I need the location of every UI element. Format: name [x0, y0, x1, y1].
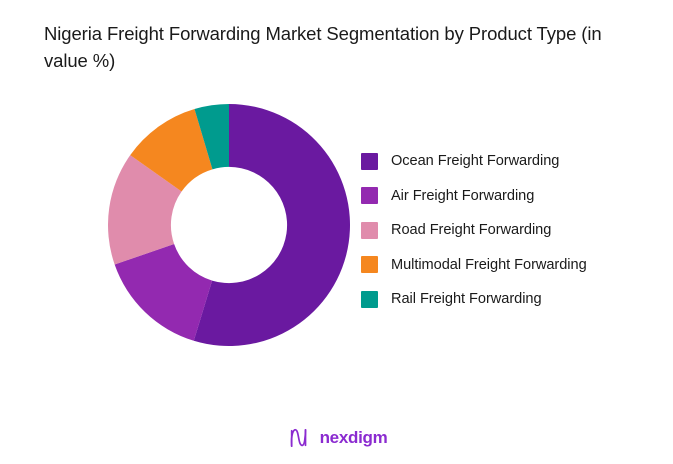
legend-swatch-icon	[361, 187, 378, 204]
legend-item-label: Air Freight Forwarding	[391, 188, 534, 204]
nexdigm-wave-logo-icon	[286, 425, 312, 451]
donut-chart-svg	[108, 104, 350, 346]
legend-item-ocean-freight-forwarding[interactable]: Ocean Freight Forwarding	[361, 144, 661, 179]
legend-item-road-freight-forwarding[interactable]: Road Freight Forwarding	[361, 213, 661, 248]
brand-footer: nexdigm	[0, 425, 673, 451]
donut-slice-group	[108, 104, 350, 346]
chart-legend: Ocean Freight Forwarding Air Freight For…	[361, 144, 661, 317]
legend-item-label: Road Freight Forwarding	[391, 222, 551, 238]
legend-swatch-icon	[361, 256, 378, 273]
legend-swatch-icon	[361, 153, 378, 170]
legend-item-label: Multimodal Freight Forwarding	[391, 257, 587, 273]
donut-chart	[108, 104, 350, 346]
brand-name: nexdigm	[320, 428, 388, 448]
legend-swatch-icon	[361, 291, 378, 308]
legend-item-air-freight-forwarding[interactable]: Air Freight Forwarding	[361, 179, 661, 214]
legend-item-rail-freight-forwarding[interactable]: Rail Freight Forwarding	[361, 282, 661, 317]
page-title: Nigeria Freight Forwarding Market Segmen…	[44, 20, 644, 74]
chart-page: Nigeria Freight Forwarding Market Segmen…	[0, 0, 673, 464]
legend-item-label: Ocean Freight Forwarding	[391, 153, 559, 169]
legend-item-multimodal-freight-forwarding[interactable]: Multimodal Freight Forwarding	[361, 248, 661, 283]
legend-swatch-icon	[361, 222, 378, 239]
legend-item-label: Rail Freight Forwarding	[391, 291, 542, 307]
